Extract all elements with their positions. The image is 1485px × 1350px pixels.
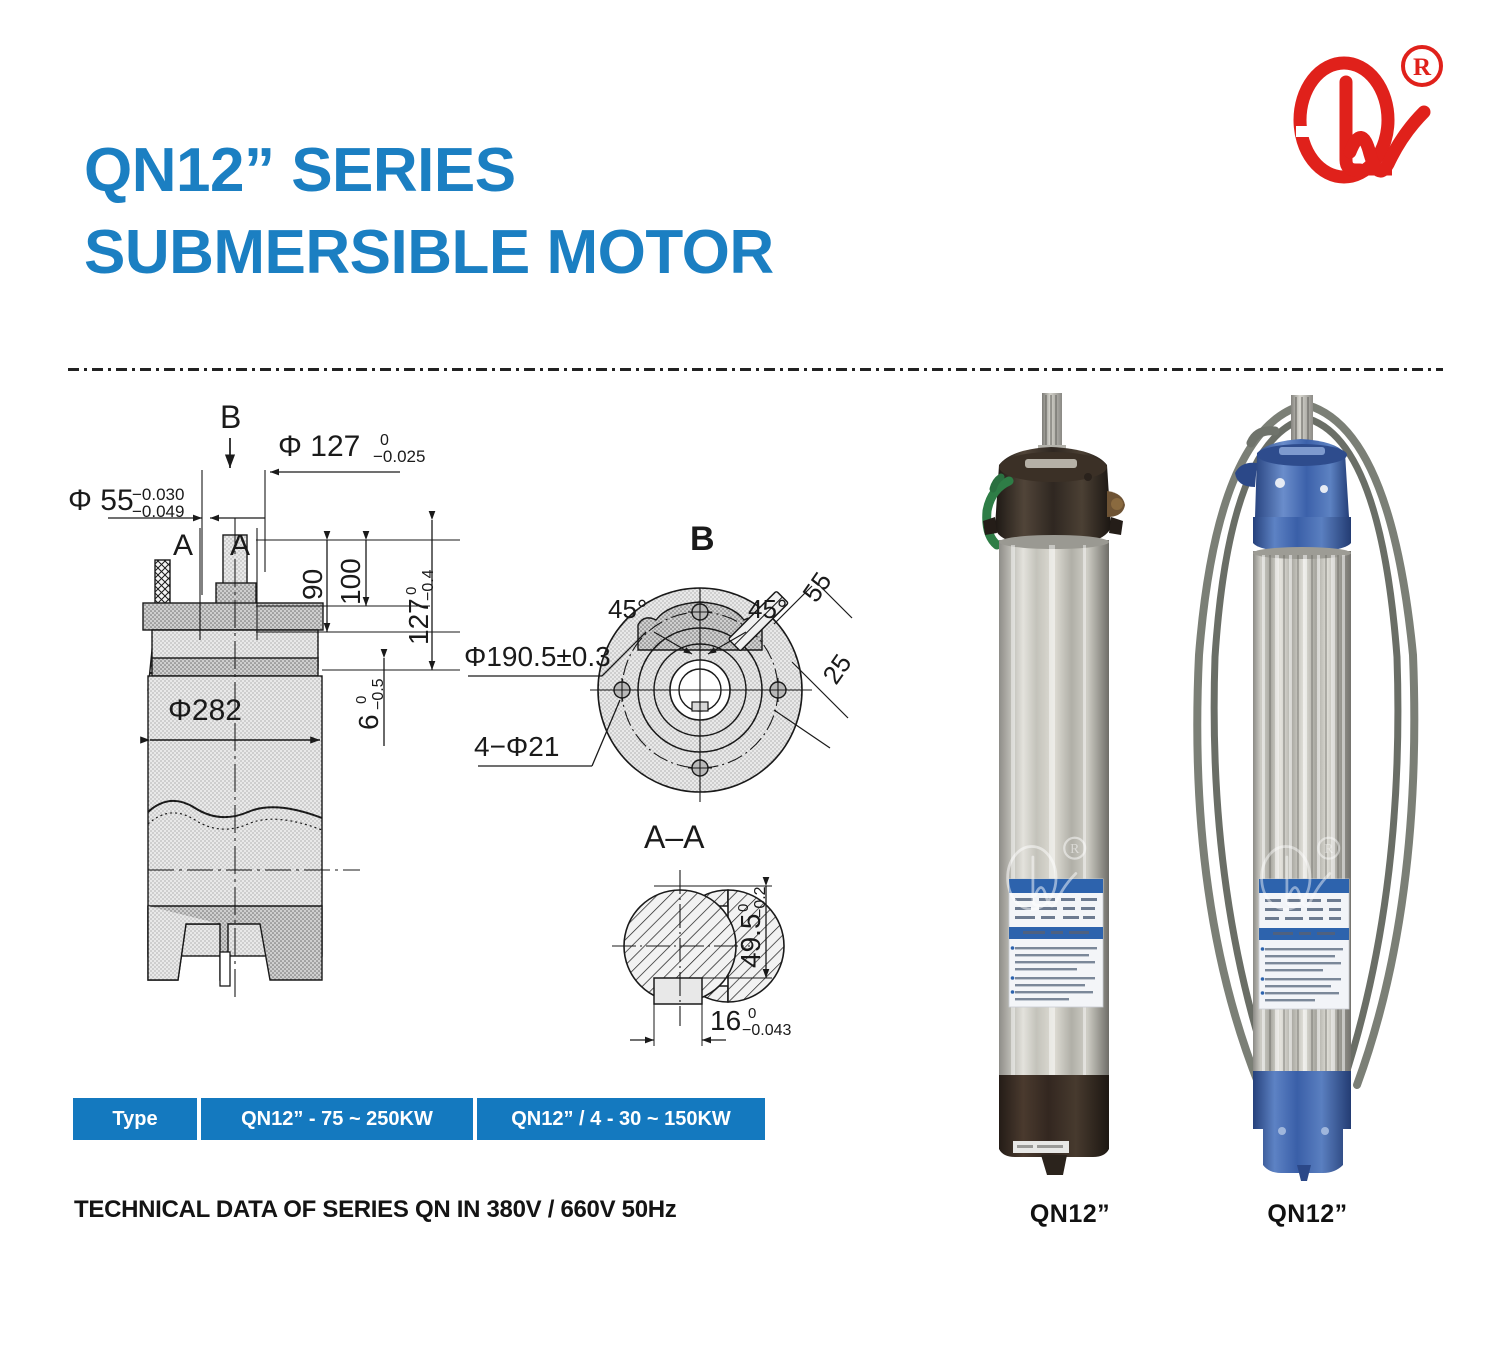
svg-text:R: R	[1324, 841, 1334, 856]
svg-text:127: 127	[403, 598, 434, 645]
svg-text:55: 55	[796, 567, 837, 608]
svg-text:0: 0	[353, 696, 370, 704]
svg-text:100: 100	[335, 558, 366, 605]
svg-text:−0.5: −0.5	[370, 678, 387, 710]
technical-drawing: B Φ 127 0 −0.025 Φ 55 −0.030 −0.049 A A …	[60, 400, 890, 1060]
qn-brand-logo: R	[1288, 42, 1458, 197]
svg-text:A–A: A–A	[644, 819, 705, 855]
svg-text:90: 90	[297, 569, 328, 600]
motor-photo-black-top: R	[955, 385, 1185, 1185]
technical-data-note: TECHNICAL DATA OF SERIES QN IN 380V / 66…	[74, 1196, 677, 1224]
svg-text:−0.4: −0.4	[420, 569, 437, 601]
spec-cell-qn12-75-250kw: QN12” - 75 ~ 250KW	[201, 1098, 473, 1140]
spec-cell-qn12-4-30-150kw: QN12” / 4 - 30 ~ 150KW	[477, 1098, 765, 1140]
svg-text:Φ 55: Φ 55	[68, 484, 134, 517]
svg-text:−0.049: −0.049	[132, 502, 184, 521]
svg-text:Φ 127: Φ 127	[278, 430, 360, 463]
svg-text:0: 0	[403, 587, 420, 595]
svg-text:−0.043: −0.043	[742, 1022, 791, 1039]
photo-caption-2: QN12”	[1185, 1200, 1430, 1229]
section-divider	[68, 368, 1443, 371]
svg-text:6: 6	[353, 714, 384, 730]
svg-text:49.5: 49.5	[735, 914, 766, 969]
svg-text:−0.2: −0.2	[752, 886, 769, 918]
svg-text:0: 0	[748, 1005, 756, 1022]
svg-text:16: 16	[710, 1005, 741, 1036]
svg-text:Φ282: Φ282	[168, 694, 242, 727]
page-title: QN12” SERIES SUBMERSIBLE MOTOR	[84, 130, 774, 295]
svg-text:4−Φ21: 4−Φ21	[474, 731, 559, 762]
svg-text:25: 25	[816, 649, 857, 690]
spec-cell-type: Type	[73, 1098, 197, 1140]
svg-text:B: B	[690, 520, 715, 558]
svg-text:45°: 45°	[608, 594, 647, 624]
svg-text:45°: 45°	[748, 594, 787, 624]
photo-caption-1: QN12”	[955, 1200, 1185, 1229]
spec-table: Type QN12” - 75 ~ 250KW QN12” / 4 - 30 ~…	[73, 1098, 765, 1140]
svg-text:0: 0	[735, 904, 752, 912]
svg-text:B: B	[220, 400, 241, 435]
svg-text:R: R	[1070, 841, 1080, 856]
svg-text:−0.025: −0.025	[373, 447, 425, 466]
svg-text:R: R	[1413, 54, 1432, 81]
motor-photo-blue-top: R	[1185, 385, 1430, 1185]
svg-text:A: A	[173, 529, 193, 562]
svg-text:Φ190.5±0.3: Φ190.5±0.3	[464, 641, 611, 672]
svg-text:A: A	[230, 529, 250, 562]
